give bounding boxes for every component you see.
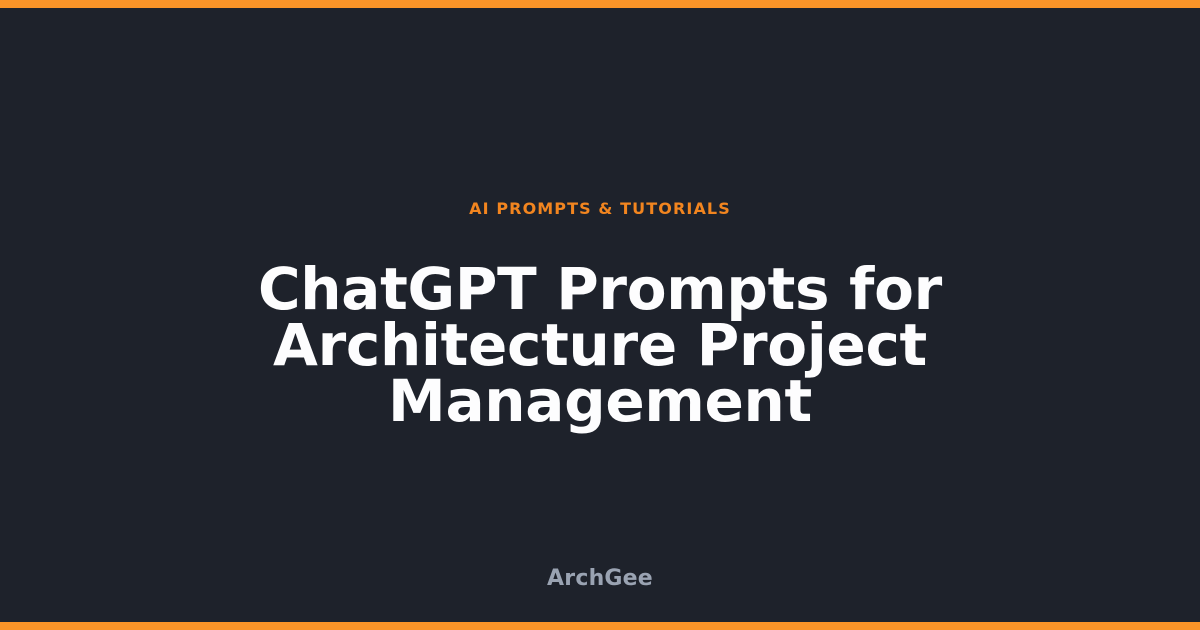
social-share-card: AI PROMPTS & TUTORIALS ChatGPT Prompts f… <box>0 0 1200 630</box>
bottom-accent-rule <box>0 622 1200 630</box>
page-title: ChatGPT Prompts for Architecture Project… <box>150 261 1050 429</box>
category-eyebrow: AI PROMPTS & TUTORIALS <box>469 201 731 217</box>
card-content: AI PROMPTS & TUTORIALS ChatGPT Prompts f… <box>0 0 1200 630</box>
brand-name: ArchGee <box>547 566 653 591</box>
card-footer: ArchGee <box>0 568 1200 590</box>
